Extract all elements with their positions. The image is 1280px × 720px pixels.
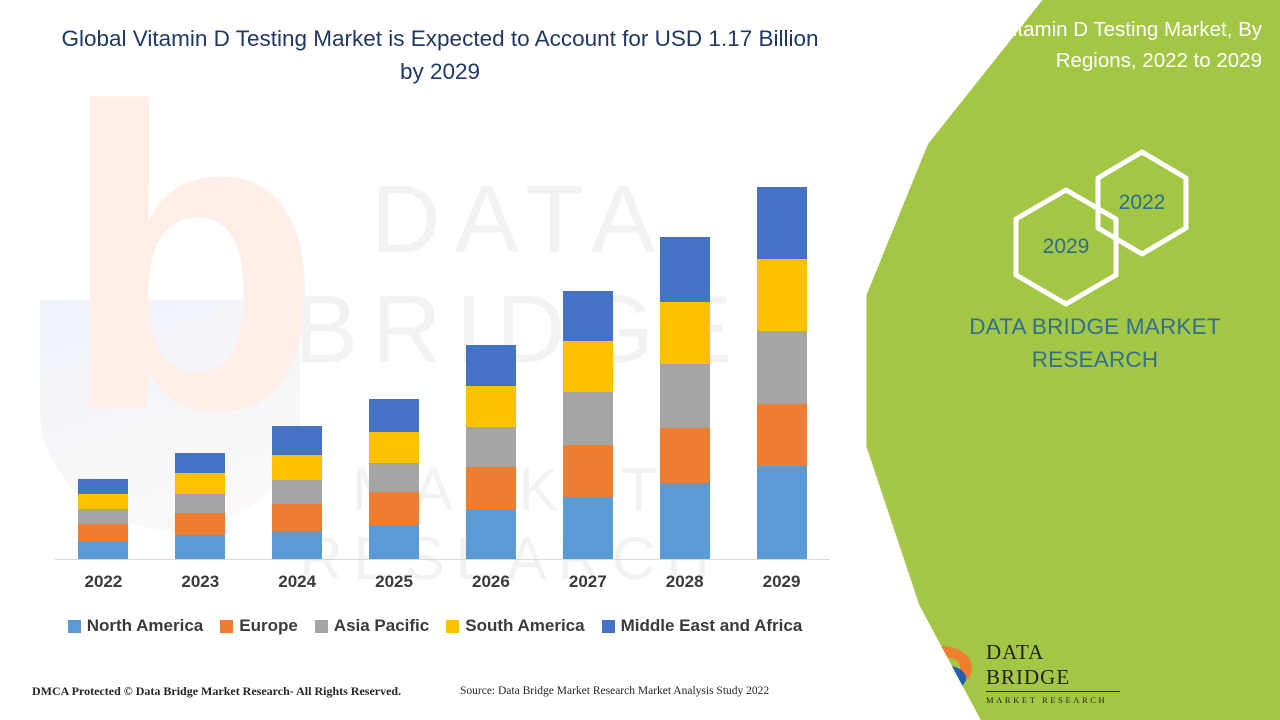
hexagon-badge-2022-label: 2022 xyxy=(1119,191,1166,215)
bar-slot-2022 xyxy=(55,151,152,559)
stacked-bar[interactable] xyxy=(272,426,322,559)
x-axis-tick-label: 2025 xyxy=(346,572,443,592)
chart-page: b DATA BRIDGE MARKET RESEARCH Global Vit… xyxy=(0,0,1280,720)
footer-source: Source: Data Bridge Market Research Mark… xyxy=(460,685,769,697)
logo-main-text: DATA BRIDGE xyxy=(986,640,1126,690)
bar-segment[interactable] xyxy=(369,525,419,559)
stacked-bar[interactable] xyxy=(369,399,419,559)
legend-label: North America xyxy=(87,616,204,636)
bar-segment[interactable] xyxy=(563,392,613,445)
side-panel-brand: DATA BRIDGE MARKET RESEARCH xyxy=(930,310,1260,376)
bar-segment[interactable] xyxy=(757,466,807,559)
hexagon-badge-2029: 2029 xyxy=(1010,186,1122,308)
bar-slot-2028 xyxy=(636,151,733,559)
legend-item[interactable]: Middle East and Africa xyxy=(602,616,803,636)
bar-group xyxy=(55,151,830,559)
legend-label: Middle East and Africa xyxy=(621,616,803,636)
bar-segment[interactable] xyxy=(369,492,419,525)
x-axis-tick-label: 2024 xyxy=(249,572,346,592)
bar-segment[interactable] xyxy=(175,535,225,559)
chart-title: Global Vitamin D Testing Market is Expec… xyxy=(56,22,824,88)
stacked-bar[interactable] xyxy=(466,345,516,559)
bar-segment[interactable] xyxy=(563,291,613,341)
hexagon-badge-2029-label: 2029 xyxy=(1043,235,1090,259)
legend-item[interactable]: South America xyxy=(446,616,584,636)
bar-segment[interactable] xyxy=(660,302,710,364)
bar-segment[interactable] xyxy=(369,463,419,492)
bar-segment[interactable] xyxy=(660,237,710,302)
legend-label: South America xyxy=(465,616,584,636)
stacked-bar[interactable] xyxy=(175,453,225,559)
bar-segment[interactable] xyxy=(78,541,128,559)
bar-segment[interactable] xyxy=(466,345,516,386)
bar-segment[interactable] xyxy=(175,513,225,535)
bar-slot-2023 xyxy=(152,151,249,559)
bar-slot-2026 xyxy=(443,151,540,559)
side-panel: Global Vitamin D Testing Market, By Regi… xyxy=(840,0,1280,720)
legend-swatch-icon xyxy=(315,620,328,633)
bar-segment[interactable] xyxy=(78,494,128,509)
legend-label: Europe xyxy=(239,616,298,636)
bar-segment[interactable] xyxy=(272,480,322,504)
bar-segment[interactable] xyxy=(466,510,516,559)
bar-segment[interactable] xyxy=(272,455,322,480)
bar-segment[interactable] xyxy=(369,399,419,432)
stacked-bar[interactable] xyxy=(660,237,710,559)
logo-divider xyxy=(986,691,1120,692)
legend-swatch-icon xyxy=(220,620,233,633)
side-panel-title: Global Vitamin D Testing Market, By Regi… xyxy=(902,14,1262,76)
bar-segment[interactable] xyxy=(175,494,225,513)
bar-segment[interactable] xyxy=(660,483,710,559)
bar-segment[interactable] xyxy=(78,524,128,541)
bar-segment[interactable] xyxy=(175,453,225,473)
legend-swatch-icon xyxy=(68,620,81,633)
bar-slot-2024 xyxy=(249,151,346,559)
bar-segment[interactable] xyxy=(369,432,419,463)
logo-sub-text: MARKET RESEARCH xyxy=(986,694,1126,706)
bar-segment[interactable] xyxy=(757,259,807,331)
bar-slot-2029 xyxy=(733,151,830,559)
bar-segment[interactable] xyxy=(272,504,322,531)
bar-segment[interactable] xyxy=(466,386,516,427)
legend-item[interactable]: Asia Pacific xyxy=(315,616,429,636)
stacked-bar[interactable] xyxy=(78,479,128,559)
bar-segment[interactable] xyxy=(78,509,128,524)
logo-text: DATA BRIDGE MARKET RESEARCH xyxy=(986,640,1126,706)
bar-segment[interactable] xyxy=(563,341,613,392)
x-axis-labels: 20222023202420252026202720282029 xyxy=(55,572,830,592)
legend-item[interactable]: North America xyxy=(68,616,204,636)
chart-legend: North AmericaEuropeAsia PacificSouth Ame… xyxy=(40,616,830,636)
x-axis-tick-label: 2026 xyxy=(443,572,540,592)
stacked-bar[interactable] xyxy=(757,187,807,559)
x-axis-tick-label: 2023 xyxy=(152,572,249,592)
bar-segment[interactable] xyxy=(757,331,807,404)
bar-segment[interactable] xyxy=(757,187,807,259)
bar-segment[interactable] xyxy=(175,473,225,494)
bar-segment[interactable] xyxy=(272,426,322,455)
footer-copyright: DMCA Protected © Data Bridge Market Rese… xyxy=(32,684,401,699)
x-axis-tick-label: 2022 xyxy=(55,572,152,592)
x-axis-tick-label: 2027 xyxy=(539,572,636,592)
stacked-bar[interactable] xyxy=(563,291,613,559)
bar-segment[interactable] xyxy=(660,364,710,428)
bar-segment[interactable] xyxy=(78,479,128,494)
bar-segment[interactable] xyxy=(757,404,807,466)
x-axis-tick-label: 2029 xyxy=(733,572,830,592)
bar-segment[interactable] xyxy=(563,445,613,497)
legend-swatch-icon xyxy=(446,620,459,633)
company-logo: DATA BRIDGE MARKET RESEARCH xyxy=(910,632,1125,698)
legend-swatch-icon xyxy=(602,620,615,633)
bar-segment[interactable] xyxy=(272,531,322,559)
chart-plot-area xyxy=(55,150,830,560)
legend-item[interactable]: Europe xyxy=(220,616,298,636)
legend-label: Asia Pacific xyxy=(334,616,429,636)
bar-segment[interactable] xyxy=(660,428,710,483)
bar-slot-2027 xyxy=(539,151,636,559)
bar-segment[interactable] xyxy=(466,427,516,467)
data-bridge-logo-icon xyxy=(910,632,978,696)
bar-segment[interactable] xyxy=(466,467,516,510)
bar-segment[interactable] xyxy=(563,497,613,559)
x-axis-tick-label: 2028 xyxy=(636,572,733,592)
x-axis-line xyxy=(55,559,830,560)
bar-slot-2025 xyxy=(346,151,443,559)
